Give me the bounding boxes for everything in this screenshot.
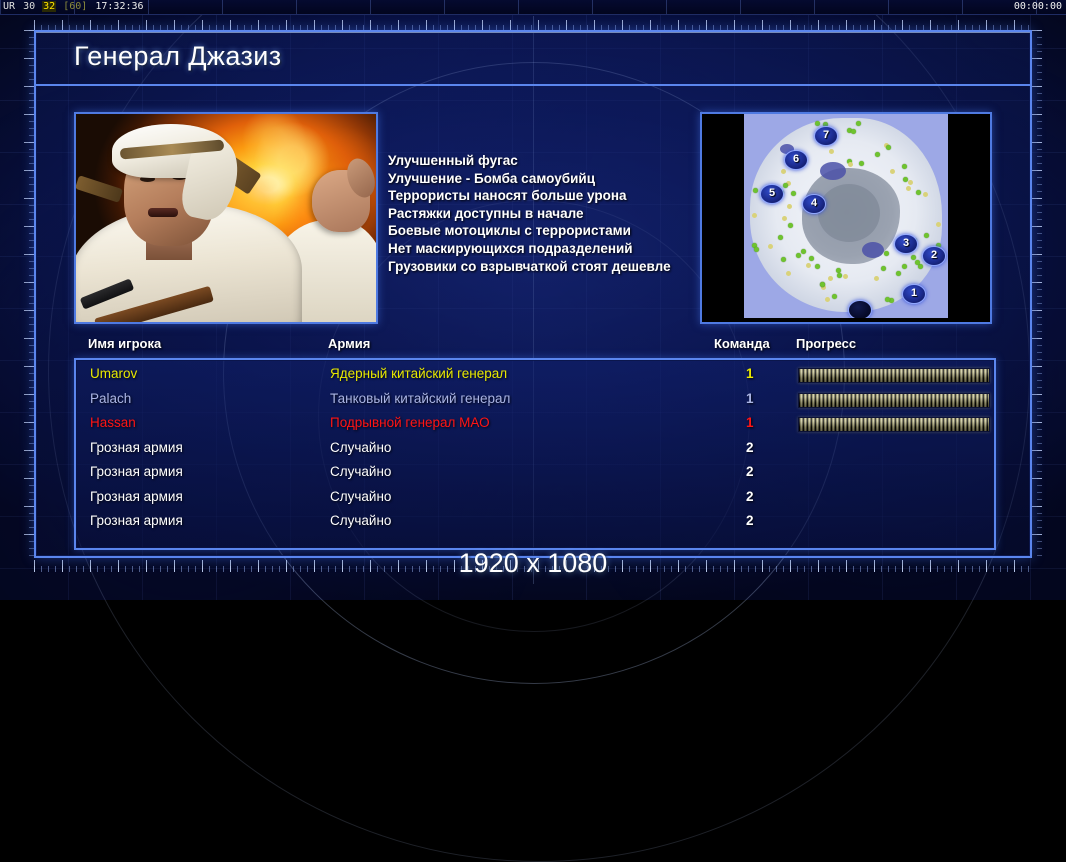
map-resource-dot — [786, 271, 791, 276]
map-resource-dot — [859, 161, 864, 166]
map-resource-dot — [787, 204, 792, 209]
map-resource-dot — [806, 263, 811, 268]
table-row[interactable]: Грозная армияСлучайно2 — [76, 437, 994, 462]
cell-army: Случайно — [330, 440, 391, 455]
start-position-marker-2: 2 — [922, 246, 946, 266]
map-resource-dot — [782, 216, 787, 221]
table-header-row: Имя игрока Армия Команда Прогресс — [74, 336, 992, 358]
player-table: UmarovЯдерный китайский генерал1PalachТа… — [74, 358, 996, 550]
map-water-2 — [862, 242, 884, 258]
ability-item: Террористы наносят больше урона — [388, 187, 718, 205]
panel-title-bar: Генерал Джазиз — [36, 32, 1030, 86]
hud-timer: 00:00:00 — [1014, 0, 1062, 14]
map-resource-dot — [875, 152, 880, 157]
map-resource-dot — [837, 273, 842, 278]
start-position-marker-1: 1 — [902, 284, 926, 304]
map-resource-dot — [828, 276, 833, 281]
map-resource-dot — [881, 266, 886, 271]
general-abilities-list: Улучшенный фугас Улучшение - Бомба самоу… — [388, 152, 718, 275]
ability-list: Улучшенный фугас Улучшение - Бомба самоу… — [388, 152, 718, 275]
map-resource-dot — [781, 169, 786, 174]
map-resource-dot — [924, 233, 929, 238]
ability-item: Боевые мотоциклы с террористами — [388, 222, 718, 240]
map-resource-dot — [796, 253, 801, 258]
map-resource-dot — [874, 276, 879, 281]
ruler-left — [24, 30, 34, 558]
cell-team: 2 — [746, 464, 754, 479]
map-resource-dot — [832, 294, 837, 299]
map-resource-dot — [783, 183, 788, 188]
page-title: Генерал Джазиз — [74, 41, 282, 72]
cell-player-name: Hassan — [90, 415, 136, 430]
map-resource-dot — [918, 264, 923, 269]
progress-bar — [798, 417, 990, 432]
hud-value-3: [60] — [62, 1, 88, 12]
map-resource-dot — [886, 145, 891, 150]
map-resource-dot — [902, 264, 907, 269]
map-resource-dot — [843, 274, 848, 279]
ability-item: Улучшенный фугас — [388, 152, 718, 170]
start-position-marker-3: 3 — [894, 234, 918, 254]
hud-value-1: 30 — [22, 1, 36, 12]
map-resource-dot — [856, 121, 861, 126]
map-resource-dot — [768, 244, 773, 249]
cell-team: 1 — [746, 366, 754, 381]
start-position-marker-6: 6 — [784, 150, 808, 170]
cell-player-name: Грозная армия — [90, 440, 183, 455]
progress-bar — [798, 393, 990, 408]
media-row: Улучшенный фугас Улучшение - Бомба самоу… — [74, 112, 992, 324]
hud-stats: UR 30 32 [60] 17:32:36 — [2, 0, 145, 14]
map-resource-dot — [908, 180, 913, 185]
map-resource-dot — [896, 271, 901, 276]
column-header-progress: Прогресс — [796, 336, 856, 351]
map-resource-dot — [752, 213, 757, 218]
map-resource-dot — [885, 297, 890, 302]
map-resource-dot — [906, 186, 911, 191]
cell-team: 2 — [746, 440, 754, 455]
map-resource-dot — [936, 222, 941, 227]
map-preview[interactable]: 7654321 — [700, 112, 992, 324]
general-info-panel: Генерал Джазиз — [34, 30, 1032, 558]
progress-bar-shading — [799, 369, 989, 382]
cell-player-name: Грозная армия — [90, 489, 183, 504]
start-position-marker — [848, 300, 872, 318]
cell-army: Случайно — [330, 464, 391, 479]
ability-item: Улучшение - Бомба самоубийц — [388, 170, 718, 188]
cell-team: 2 — [746, 489, 754, 504]
cell-army: Случайно — [330, 489, 391, 504]
map-crater-inner — [818, 184, 880, 242]
map-resource-dot — [778, 235, 783, 240]
map-resource-dot — [903, 177, 908, 182]
progress-bar — [798, 368, 990, 383]
map-resource-dot — [829, 149, 834, 154]
top-hud-bar: UR 30 32 [60] 17:32:36 00:00:00 — [0, 0, 1066, 15]
column-header-team: Команда — [714, 336, 770, 351]
map-resource-dot — [911, 255, 916, 260]
ability-item: Грузовики со взрывчаткой стоят дешевле — [388, 258, 718, 276]
hud-cell-dividers — [0, 0, 1066, 14]
map-image: 7654321 — [744, 114, 948, 318]
map-resource-dot — [754, 247, 759, 252]
map-resource-dot — [848, 162, 853, 167]
start-position-marker-7: 7 — [814, 126, 838, 146]
map-resource-dot — [788, 223, 793, 228]
ruler-right — [1032, 30, 1042, 558]
column-header-name: Имя игрока — [88, 336, 161, 351]
hud-label-ur: UR — [2, 1, 16, 12]
map-resource-dot — [923, 192, 928, 197]
map-resource-dot — [809, 256, 814, 261]
map-resource-dot — [820, 282, 825, 287]
map-resource-dot — [753, 188, 758, 193]
cell-team: 1 — [746, 415, 754, 430]
table-row[interactable]: Грозная армияСлучайно2 — [76, 510, 994, 535]
map-resource-dot — [825, 297, 830, 302]
hud-value-2: 32 — [42, 1, 56, 12]
map-water-1 — [820, 162, 846, 180]
column-header-army: Армия — [328, 336, 370, 351]
cell-player-name: Palach — [90, 391, 131, 406]
portrait-mouth — [148, 208, 178, 217]
player-rows: UmarovЯдерный китайский генерал1PalachТа… — [76, 360, 994, 548]
cell-player-name: Грозная армия — [90, 513, 183, 528]
start-position-marker-4: 4 — [802, 194, 826, 214]
cell-army: Случайно — [330, 513, 391, 528]
map-resource-dot — [916, 190, 921, 195]
map-resource-dot — [815, 264, 820, 269]
cell-player-name: Грозная армия — [90, 464, 183, 479]
map-resource-dot — [890, 169, 895, 174]
map-resource-dot — [791, 191, 796, 196]
progress-bar-shading — [799, 394, 989, 407]
table-row[interactable]: PalachТанковый китайский генерал1 — [76, 388, 994, 413]
cell-player-name: Umarov — [90, 366, 137, 381]
map-resource-dot — [801, 249, 806, 254]
general-portrait — [74, 112, 378, 324]
cell-army: Ядерный китайский генерал — [330, 366, 507, 381]
start-position-marker-5: 5 — [760, 184, 784, 204]
table-row[interactable]: HassanПодрывной генерал МАО1 — [76, 412, 994, 437]
table-row[interactable]: UmarovЯдерный китайский генерал1 — [76, 363, 994, 388]
cell-army: Подрывной генерал МАО — [330, 415, 490, 430]
cell-army: Танковый китайский генерал — [330, 391, 510, 406]
cell-team: 2 — [746, 513, 754, 528]
ruler-top — [34, 20, 1032, 30]
hud-clock: 17:32:36 — [94, 1, 144, 12]
cell-team: 1 — [746, 391, 754, 406]
map-resource-dot — [851, 129, 856, 134]
map-resource-dot — [884, 251, 889, 256]
map-resource-dot — [902, 164, 907, 169]
ability-item: Растяжки доступны в начале — [388, 205, 718, 223]
table-row[interactable]: Грозная армияСлучайно2 — [76, 486, 994, 511]
progress-bar-shading — [799, 418, 989, 431]
resolution-label: 1920 x 1080 — [0, 548, 1066, 579]
map-resource-dot — [781, 257, 786, 262]
map-resource-dot — [815, 121, 820, 126]
ability-item: Нет маскирующихся подразделений — [388, 240, 718, 258]
map-resource-dot — [915, 260, 920, 265]
table-row[interactable]: Грозная армияСлучайно2 — [76, 461, 994, 486]
